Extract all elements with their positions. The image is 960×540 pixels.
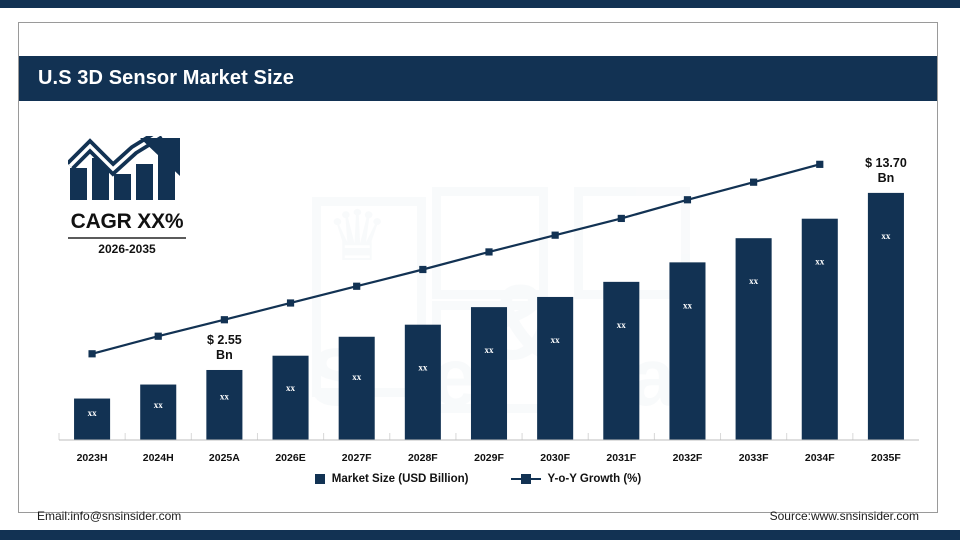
yoy-growth-marker-2025A [221, 316, 228, 323]
legend-label-market-size: Market Size (USD Billion) [332, 473, 469, 485]
bar-value-label: xx [88, 408, 98, 418]
legend-item-yoy-growth[interactable]: Y-o-Y Growth (%) [511, 473, 642, 485]
legend-item-market-size[interactable]: Market Size (USD Billion) [315, 473, 469, 485]
yoy-growth-marker-2026E [287, 299, 294, 306]
yoy-growth-marker-2027F [353, 283, 360, 290]
yoy-growth-marker-2031F [618, 215, 625, 222]
yoy-growth-marker-2023H [88, 350, 95, 357]
x-axis-label-2033F: 2033F [739, 452, 769, 464]
bar-value-label: xx [815, 257, 825, 267]
yoy-growth-line [92, 164, 820, 353]
bar-2033F [736, 238, 772, 440]
chart-footer: Email:info@snsinsider.com Source:www.sns… [19, 496, 937, 536]
bar-value-label: xx [220, 391, 230, 401]
x-axis-label-2028F: 2028F [408, 452, 438, 464]
bar-2024H [140, 385, 176, 440]
annotation-2035F: Bn [878, 171, 895, 185]
bar-value-label: xx [551, 335, 561, 345]
bar-2031F [603, 282, 639, 440]
x-axis-label-2031F: 2031F [606, 452, 636, 464]
bar-2029F [471, 307, 507, 440]
x-axis-label-2034F: 2034F [805, 452, 835, 464]
annotation-2025A: Bn [216, 348, 233, 362]
bar-value-label: xx [617, 320, 627, 330]
top-accent-band [0, 0, 960, 8]
x-axis-label-2026E: 2026E [275, 452, 305, 464]
plot-area: ♛ & S e a CAGR XX% 2026-2035 xxxxxxxxxxx… [19, 101, 937, 513]
category-labels-group: 2023H2024H2025A2026E2027F2028F2029F2030F… [77, 452, 902, 464]
bar-2034F [802, 219, 838, 440]
chart-header: U.S 3D Sensor Market Size [19, 56, 937, 101]
yoy-growth-marker-2029F [485, 248, 492, 255]
x-axis-label-2023H: 2023H [77, 452, 108, 464]
x-axis-label-2024H: 2024H [143, 452, 174, 464]
x-axis-label-2027F: 2027F [342, 452, 372, 464]
bar-value-label: xx [154, 400, 164, 410]
bar-2028F [405, 325, 441, 440]
bar-value-label: xx [881, 231, 891, 241]
bar-value-label: xx [485, 345, 495, 355]
bar-2032F [669, 262, 705, 440]
contact-email: Email:info@snsinsider.com [37, 509, 181, 523]
legend-label-yoy-growth: Y-o-Y Growth (%) [548, 473, 642, 485]
bar-value-label: xx [683, 300, 693, 310]
x-axis-label-2032F: 2032F [673, 452, 703, 464]
bar-value-label: xx [286, 383, 296, 393]
yoy-growth-marker-2028F [419, 266, 426, 273]
bar-2026E [273, 356, 309, 440]
x-axis-label-2029F: 2029F [474, 452, 504, 464]
bar-value-label: xx [352, 372, 362, 382]
yoy-growth-marker-2033F [750, 179, 757, 186]
market-size-chart: xxxxxxxxxxxxxxxxxxxxxxxxxx 2023H2024H202… [19, 101, 937, 513]
bar-2023H [74, 399, 110, 440]
yoy-growth-marker-2030F [552, 232, 559, 239]
bar-2030F [537, 297, 573, 440]
x-axis-label-2035F: 2035F [871, 452, 901, 464]
bar-value-label: xx [749, 276, 759, 286]
page-title: U.S 3D Sensor Market Size [19, 67, 294, 90]
yoy-growth-marker-2034F [816, 161, 823, 168]
growth-line-group [88, 161, 823, 358]
chart-card: U.S 3D Sensor Market Size ♛ & S e a [18, 22, 938, 513]
bars-group: xxxxxxxxxxxxxxxxxxxxxxxxxx [59, 193, 904, 440]
legend-line-marker-icon [511, 474, 541, 484]
chart-legend: Market Size (USD Billion) Y-o-Y Growth (… [19, 473, 937, 485]
source-url: Source:www.snsinsider.com [770, 509, 919, 523]
bar-value-label: xx [418, 363, 428, 373]
yoy-growth-marker-2024H [155, 333, 162, 340]
annotation-2025A: $ 2.55 [207, 333, 242, 347]
x-axis-label-2025A: 2025A [209, 452, 240, 464]
bar-2025A [206, 370, 242, 440]
bar-2027F [339, 337, 375, 440]
annotation-2035F: $ 13.70 [865, 156, 907, 170]
legend-square-icon [315, 474, 325, 484]
x-axis-label-2030F: 2030F [540, 452, 570, 464]
yoy-growth-marker-2032F [684, 196, 691, 203]
